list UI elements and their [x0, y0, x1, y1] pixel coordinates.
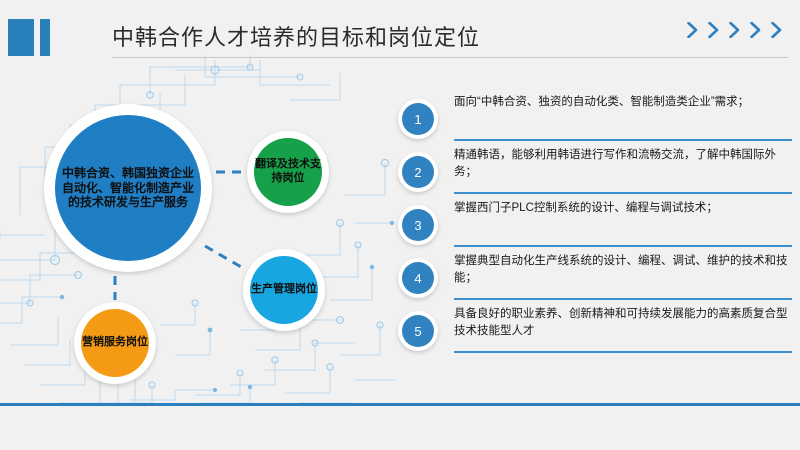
list-item[interactable]: 5 具备良好的职业素养、创新精神和可持续发展能力的高素质复合型技术技能型人才	[398, 304, 794, 357]
list-item-underline	[454, 192, 792, 194]
list-item-number-badge: 1	[398, 99, 438, 139]
node-marketing-service[interactable]: 营销服务岗位	[74, 302, 156, 384]
list-item-number: 4	[402, 262, 434, 294]
list-item-number-badge: 4	[398, 258, 438, 298]
list-item-number: 1	[402, 103, 434, 135]
node-production-management-label: 生产管理岗位	[250, 256, 318, 324]
node-marketing-service-label: 营销服务岗位	[81, 309, 149, 377]
list-item-number: 2	[402, 156, 434, 188]
chevron-right-icon	[729, 22, 740, 38]
node-main-goal-label: 中韩合资、韩国独资企业自动化、智能化制造产业的技术研发与生产服务	[55, 115, 201, 261]
list-item-underline	[454, 351, 792, 353]
header-accent-bar-wide	[8, 19, 34, 56]
chevron-right-icon	[708, 22, 719, 38]
slide-header: 中韩合作人才培养的目标和岗位定位	[0, 0, 800, 62]
chevron-right-icon	[750, 22, 761, 38]
chevron-right-icon	[687, 22, 698, 38]
list-item-number: 3	[402, 209, 434, 241]
slide: 中韩合作人才培养的目标和岗位定位 中韩合资、韩国独资企业自动化、智能化制造产业的…	[0, 0, 800, 450]
list-item-text: 精通韩语，能够利用韩语进行写作和流畅交流，了解中韩国际外务；	[454, 147, 794, 180]
objectives-list: 1 面向“中韩合资、独资的自动化类、智能制造类企业”需求； 2 精通韩语，能够利…	[398, 92, 794, 357]
list-item[interactable]: 4 掌握典型自动化生产线系统的设计、编程、调试、维护的技术和技能；	[398, 251, 794, 304]
list-item-underline	[454, 245, 792, 247]
node-production-management[interactable]: 生产管理岗位	[243, 249, 325, 331]
list-item-number-badge: 5	[398, 311, 438, 351]
page-title: 中韩合作人才培养的目标和岗位定位	[112, 20, 480, 52]
list-item-text: 面向“中韩合资、独资的自动化类、智能制造类企业”需求；	[454, 94, 794, 111]
list-item[interactable]: 3 掌握西门子PLC控制系统的设计、编程与调试技术；	[398, 198, 794, 251]
list-item[interactable]: 1 面向“中韩合资、独资的自动化类、智能制造类企业”需求；	[398, 92, 794, 145]
footer-divider	[0, 403, 800, 406]
node-main-goal[interactable]: 中韩合资、韩国独资企业自动化、智能化制造产业的技术研发与生产服务	[44, 104, 212, 272]
list-item-text: 掌握典型自动化生产线系统的设计、编程、调试、维护的技术和技能；	[454, 253, 794, 286]
list-item-number-badge: 3	[398, 205, 438, 245]
chevron-group	[687, 22, 782, 38]
list-item-underline	[454, 298, 792, 300]
header-accent-bar-narrow	[40, 19, 50, 56]
node-translation-support-label: 翻译及技术支持岗位	[254, 138, 322, 206]
chevron-right-icon	[771, 22, 782, 38]
list-item-number: 5	[402, 315, 434, 347]
list-item[interactable]: 2 精通韩语，能够利用韩语进行写作和流畅交流，了解中韩国际外务；	[398, 145, 794, 198]
list-item-text: 掌握西门子PLC控制系统的设计、编程与调试技术；	[454, 200, 794, 217]
list-item-number-badge: 2	[398, 152, 438, 192]
node-translation-support[interactable]: 翻译及技术支持岗位	[247, 131, 329, 213]
list-item-text: 具备良好的职业素养、创新精神和可持续发展能力的高素质复合型技术技能型人才	[454, 306, 794, 339]
title-underline	[112, 57, 788, 58]
list-item-underline	[454, 139, 792, 141]
